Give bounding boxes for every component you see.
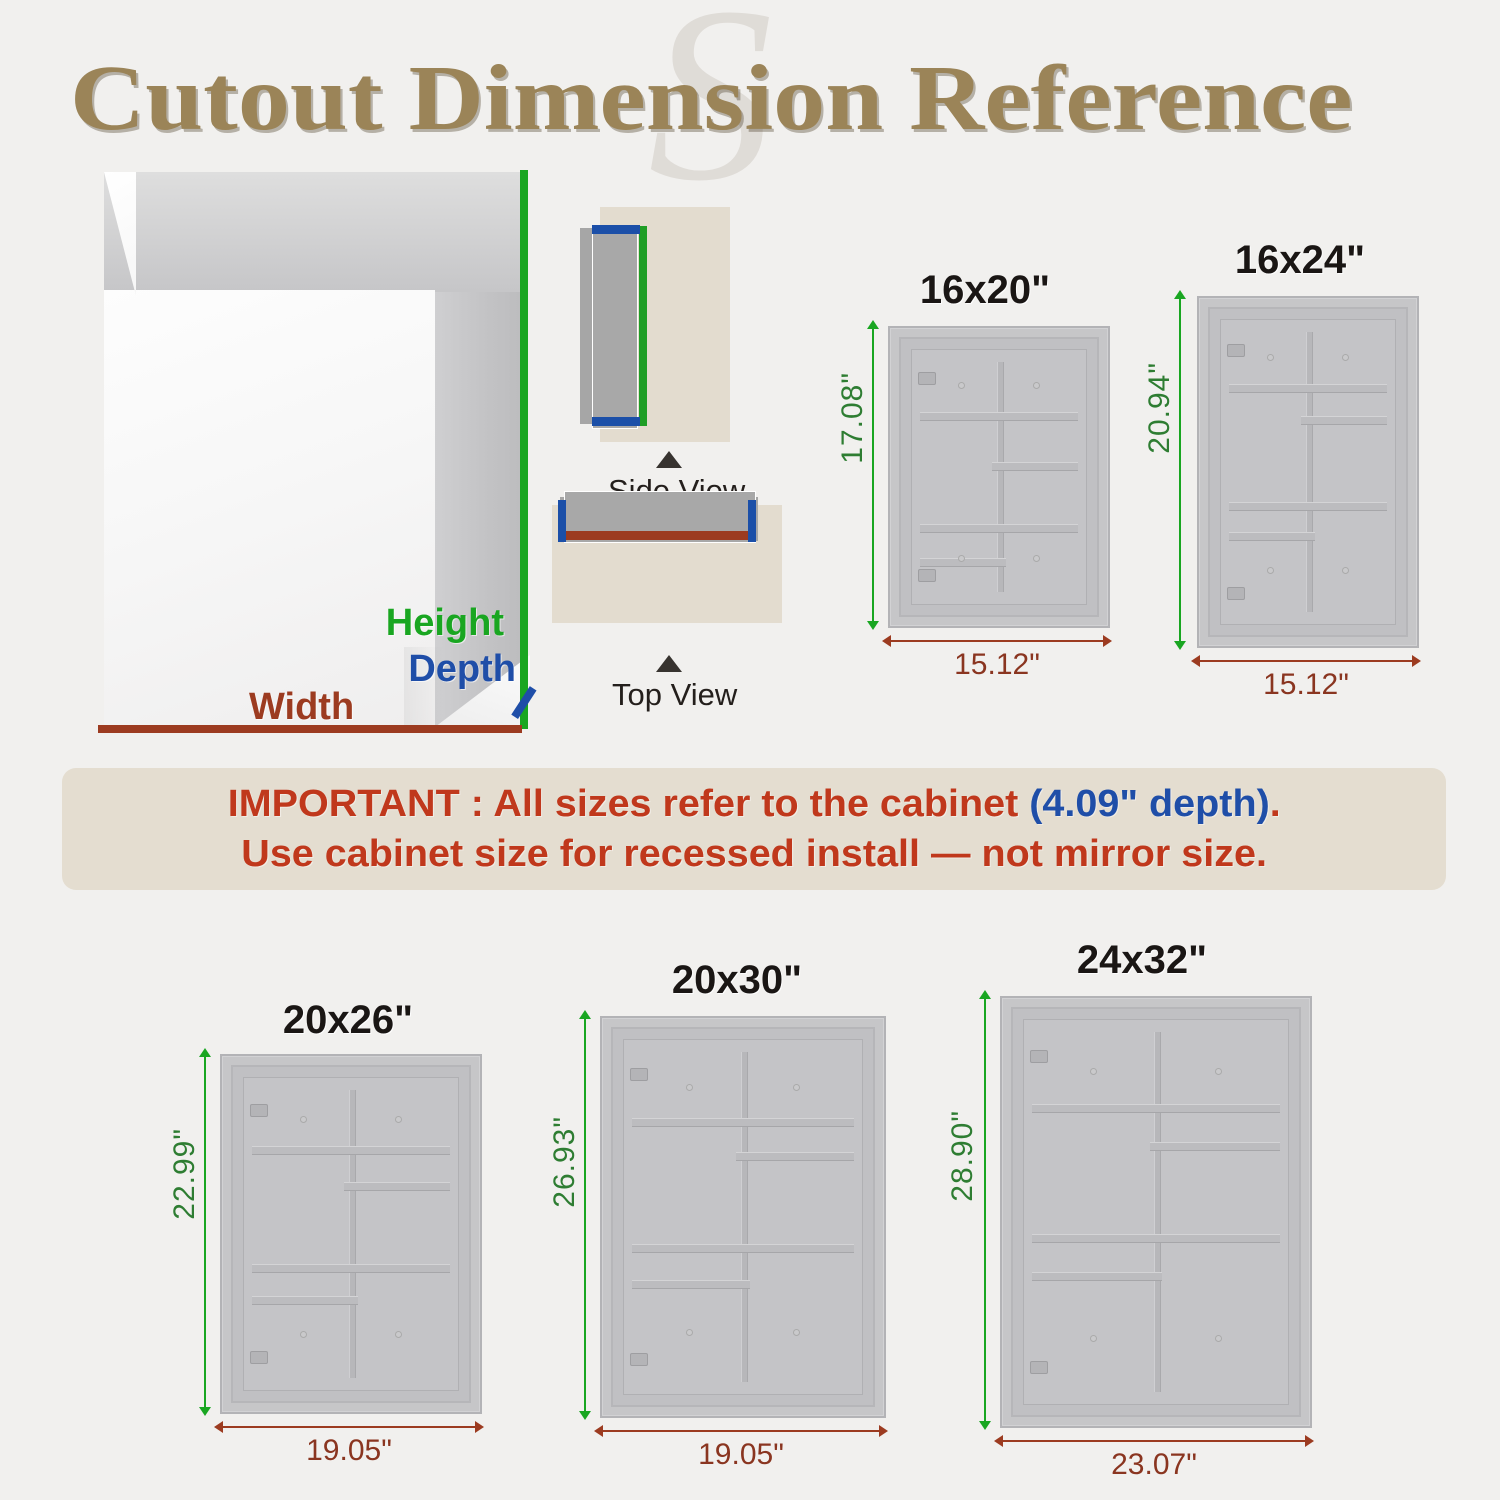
cabinet-shelf bbox=[632, 1118, 750, 1127]
cabinet-shelf bbox=[252, 1264, 358, 1273]
cabinet-mount-dot bbox=[686, 1329, 693, 1336]
height-dimension-line bbox=[1179, 298, 1181, 642]
cabinet-inner-frame bbox=[231, 1065, 471, 1403]
cabinet-mount-dot bbox=[958, 382, 965, 389]
cabinet-hinge bbox=[1227, 587, 1245, 600]
cabinet-shelf bbox=[344, 1264, 450, 1273]
triangle-up-icon bbox=[656, 655, 682, 672]
width-dimension-value: 23.07" bbox=[1002, 1448, 1306, 1482]
cabinet-shelf bbox=[992, 412, 1078, 421]
cabinet-mount-dot bbox=[1215, 1335, 1222, 1342]
cabinet-hinge bbox=[250, 1104, 268, 1117]
height-dimension-value: 26.93" bbox=[548, 1116, 582, 1208]
cabinet-hinge bbox=[250, 1351, 268, 1364]
side-view-depth-marker-top bbox=[592, 225, 640, 234]
cabinet-inner-frame bbox=[899, 337, 1099, 617]
cabinet-shelf bbox=[632, 1244, 750, 1253]
cabinet-center-divider bbox=[1154, 1032, 1161, 1392]
height-dimension-line bbox=[204, 1056, 206, 1408]
width-dimension-value: 19.05" bbox=[222, 1434, 476, 1468]
cabinet-mount-dot bbox=[686, 1084, 693, 1091]
width-dimension-line bbox=[1199, 660, 1413, 662]
wall-niche-illustration: Height Width Depth bbox=[104, 172, 524, 727]
width-dimension-line bbox=[890, 640, 1104, 642]
height-dimension-value: 22.99" bbox=[168, 1128, 202, 1220]
page-title: Cutout Dimension Reference bbox=[70, 52, 1500, 145]
cabinet-shelf bbox=[1150, 1142, 1280, 1151]
cabinet-hinge bbox=[1227, 344, 1245, 357]
cabinet-shelf bbox=[344, 1146, 450, 1155]
cabinet-mount-dot bbox=[395, 1331, 402, 1338]
top-view-label: Top View bbox=[612, 677, 737, 713]
cabinet-hinge bbox=[918, 569, 936, 582]
cabinet-body bbox=[600, 1016, 886, 1418]
cabinet-shelf bbox=[1301, 384, 1387, 393]
cabinet-24x32: 24x32" bbox=[942, 938, 1342, 1468]
cabinet-16x24: 16x24" bbox=[1145, 238, 1455, 678]
cabinet-body bbox=[1000, 996, 1312, 1428]
cabinet-20x30: 20x30" bbox=[552, 958, 922, 1468]
cabinet-shelf bbox=[992, 462, 1078, 471]
cabinet-mount-dot bbox=[1342, 354, 1349, 361]
height-dimension-line bbox=[984, 998, 986, 1422]
cabinet-hinge bbox=[918, 372, 936, 385]
cabinet-size-title: 20x26" bbox=[178, 998, 518, 1043]
notice-line-2: Use cabinet size for recessed install — … bbox=[241, 829, 1267, 879]
notice-line-1-text: IMPORTANT : All sizes refer to the cabin… bbox=[228, 783, 1029, 825]
cabinet-mount-dot bbox=[300, 1331, 307, 1338]
cabinet-size-title: 16x20" bbox=[840, 268, 1130, 313]
width-dimension-value: 15.12" bbox=[1199, 668, 1413, 702]
top-view-depth-marker-right bbox=[748, 500, 756, 542]
cabinet-hinge bbox=[630, 1353, 648, 1366]
cabinet-body bbox=[1197, 296, 1419, 648]
cabinet-mount-dot bbox=[395, 1116, 402, 1123]
width-dimension-line bbox=[222, 1426, 476, 1428]
height-dimension-value: 17.08" bbox=[836, 372, 870, 464]
triangle-up-icon bbox=[656, 451, 682, 468]
cabinet-shelf bbox=[1150, 1234, 1280, 1243]
height-dimension-value: 28.90" bbox=[946, 1110, 980, 1202]
width-dimension-value: 19.05" bbox=[602, 1438, 880, 1472]
cabinet-shelf bbox=[1301, 416, 1387, 425]
orientation-views: Side View Top View bbox=[540, 195, 800, 715]
cabinet-mount-dot bbox=[793, 1329, 800, 1336]
cabinet-hinge bbox=[1030, 1050, 1048, 1063]
height-dimension-line bbox=[872, 328, 874, 622]
cabinet-shelf bbox=[1032, 1104, 1162, 1113]
width-dimension-line bbox=[602, 1430, 880, 1432]
top-view-depth-marker-left bbox=[558, 500, 566, 542]
cabinet-shelf bbox=[736, 1244, 854, 1253]
cabinet-mount-dot bbox=[1033, 382, 1040, 389]
niche-top-inner-wall bbox=[104, 172, 524, 292]
cabinet-inner-panel bbox=[243, 1077, 459, 1391]
cabinet-mount-dot bbox=[1090, 1335, 1097, 1342]
cabinet-20x26: 20x26" bbox=[178, 998, 518, 1468]
cabinet-shelf bbox=[252, 1296, 358, 1305]
cabinet-shelf bbox=[736, 1118, 854, 1127]
height-dimension-line bbox=[584, 1018, 586, 1412]
cabinet-hinge bbox=[1030, 1361, 1048, 1374]
cabinet-shelf bbox=[1229, 532, 1315, 541]
cabinet-shelf bbox=[1032, 1272, 1162, 1281]
height-label: Height bbox=[386, 602, 504, 645]
cabinet-center-divider bbox=[741, 1052, 748, 1382]
cabinet-center-divider bbox=[1306, 332, 1313, 612]
cabinet-size-title: 16x24" bbox=[1145, 238, 1455, 283]
cabinet-inner-panel bbox=[623, 1039, 863, 1395]
cabinet-shelf bbox=[344, 1182, 450, 1191]
notice-line-1-period: . bbox=[1270, 783, 1281, 825]
cabinet-size-title: 24x32" bbox=[942, 938, 1342, 983]
cabinet-inner-panel bbox=[1220, 319, 1396, 625]
cabinet-shelf bbox=[1301, 502, 1387, 511]
cabinet-mount-dot bbox=[1267, 567, 1274, 574]
cabinet-shelf bbox=[1032, 1234, 1162, 1243]
cabinet-inner-panel bbox=[911, 349, 1087, 605]
cabinet-mount-dot bbox=[958, 555, 965, 562]
cabinet-mount-dot bbox=[1215, 1068, 1222, 1075]
depth-label: Depth bbox=[408, 648, 516, 691]
side-view-cabinet-face bbox=[592, 225, 638, 429]
important-notice-banner: IMPORTANT : All sizes refer to the cabin… bbox=[62, 768, 1446, 890]
notice-line-1: IMPORTANT : All sizes refer to the cabin… bbox=[228, 779, 1281, 829]
depth-value-highlight: (4.09" depth) bbox=[1029, 783, 1270, 825]
width-dimension-line bbox=[1002, 1440, 1306, 1442]
cabinet-shelf bbox=[252, 1146, 358, 1155]
cabinet-hinge bbox=[630, 1068, 648, 1081]
cabinet-shelf bbox=[1150, 1104, 1280, 1113]
cabinet-mount-dot bbox=[1267, 354, 1274, 361]
height-dimension-value: 20.94" bbox=[1143, 362, 1177, 454]
cabinet-inner-frame bbox=[1208, 307, 1408, 637]
cabinet-body bbox=[220, 1054, 482, 1414]
cabinet-mount-dot bbox=[793, 1084, 800, 1091]
cabinet-size-title: 20x30" bbox=[552, 958, 922, 1003]
cabinet-shelf bbox=[992, 524, 1078, 533]
cabinet-mount-dot bbox=[300, 1116, 307, 1123]
cabinet-mount-dot bbox=[1090, 1068, 1097, 1075]
niche-back-panel bbox=[104, 290, 435, 727]
cabinet-mount-dot bbox=[1033, 555, 1040, 562]
top-view-width-marker bbox=[564, 531, 750, 540]
cabinet-16x20: 16x20" bbox=[840, 268, 1130, 678]
height-edge-line bbox=[520, 170, 528, 729]
side-view-height-marker bbox=[639, 226, 647, 426]
cabinet-inner-panel bbox=[1023, 1019, 1289, 1405]
diagram-page: S Cutout Dimension Reference Height Widt… bbox=[0, 0, 1500, 1500]
cabinet-shelf bbox=[736, 1152, 854, 1161]
cabinet-inner-frame bbox=[611, 1027, 875, 1407]
width-label: Width bbox=[249, 686, 354, 729]
cabinet-body bbox=[888, 326, 1110, 628]
side-view-depth-marker-bottom bbox=[592, 417, 640, 426]
cabinet-inner-frame bbox=[1011, 1007, 1301, 1417]
cabinet-center-divider bbox=[349, 1090, 356, 1378]
width-dimension-value: 15.12" bbox=[890, 648, 1104, 682]
cabinet-mount-dot bbox=[1342, 567, 1349, 574]
cabinet-shelf bbox=[632, 1280, 750, 1289]
